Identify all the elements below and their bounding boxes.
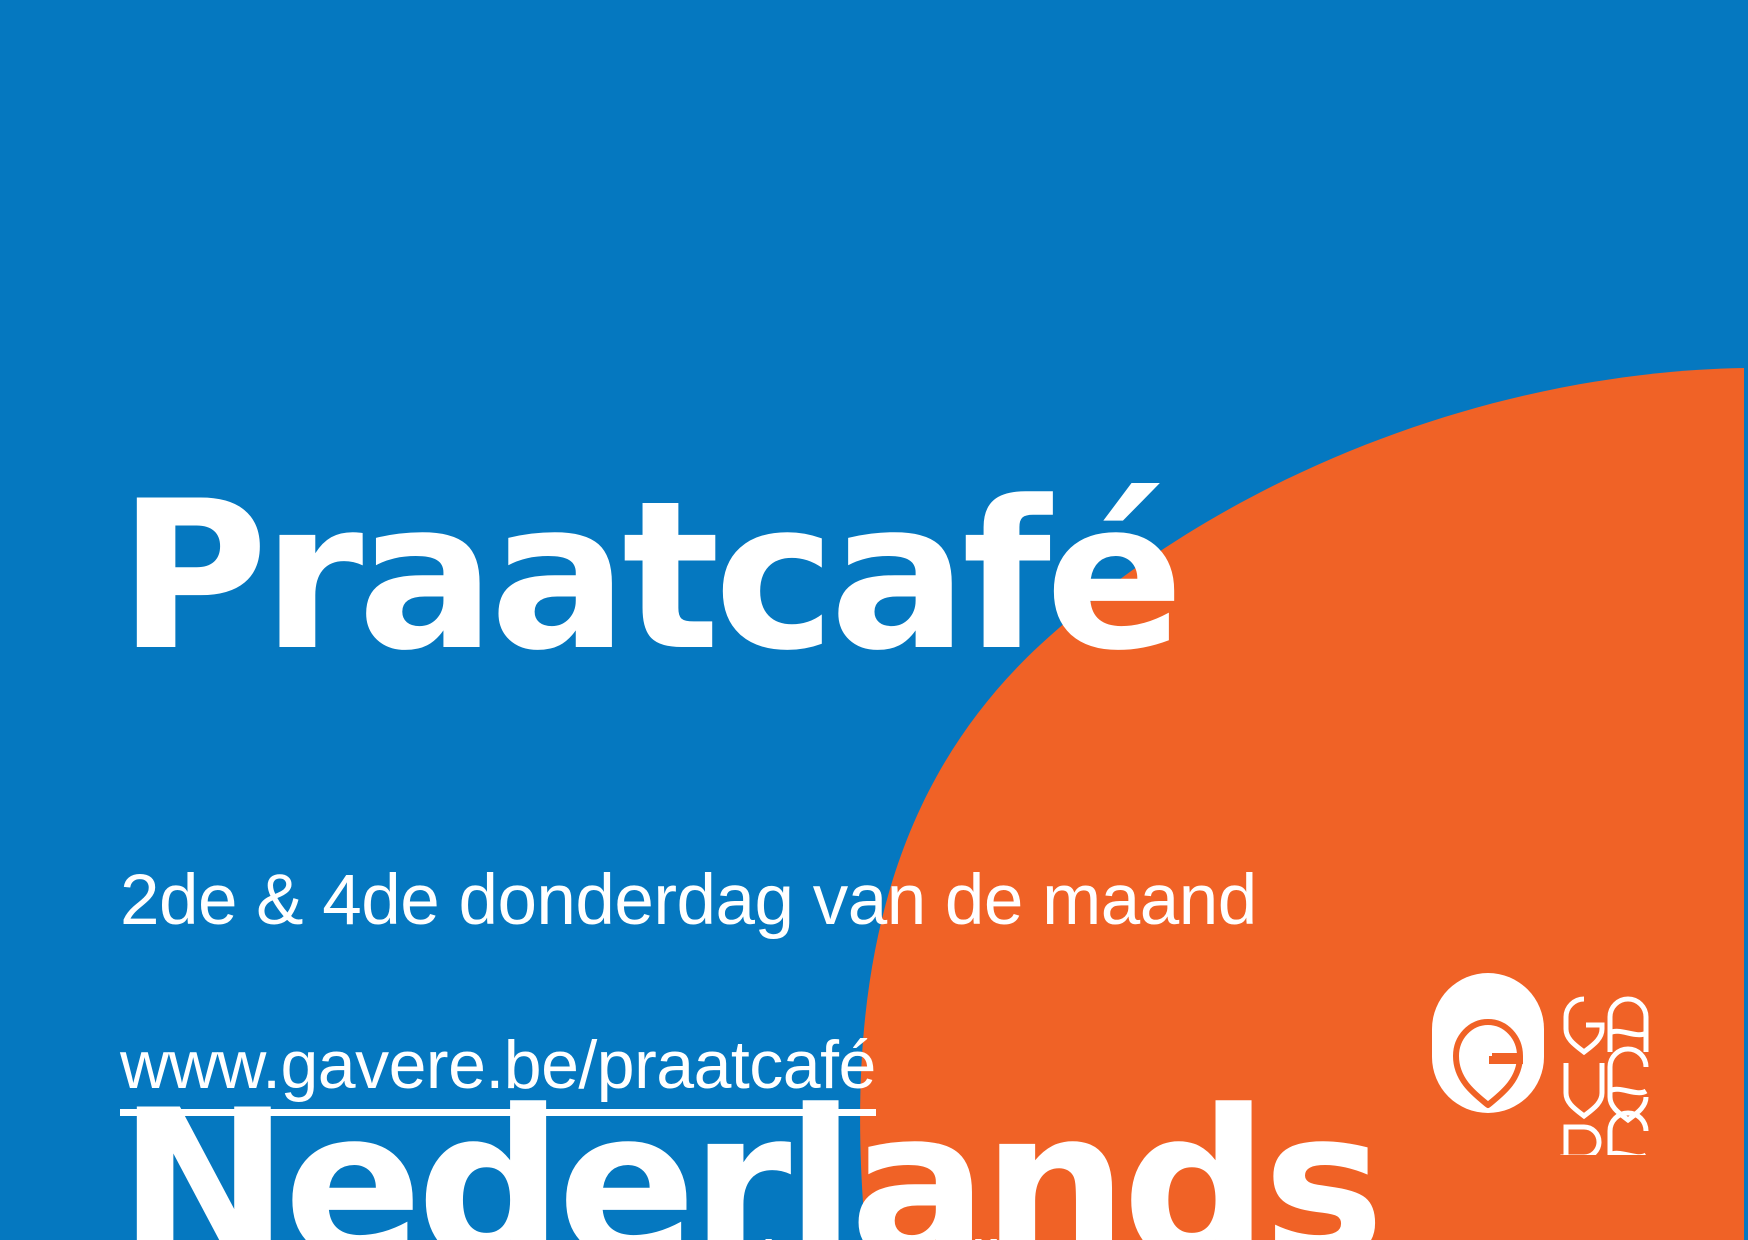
poster-content: Praatcafé Nederlands 2de & 4de donderdag… [0, 0, 1748, 1240]
website-url[interactable]: www.gavere.be/praatcafé [120, 1028, 876, 1116]
schedule-line-time: van 13.30 tot 15 uur in de bib [120, 1207, 1520, 1240]
event-schedule: 2de & 4de donderdag van de maand van 13.… [120, 596, 1520, 1240]
gavere-logo [1432, 955, 1672, 1155]
gavere-wordmark [1566, 999, 1646, 1155]
website-link-wrapper[interactable]: www.gavere.be/praatcafé [120, 1028, 876, 1116]
poster: Praatcafé Nederlands 2de & 4de donderdag… [0, 0, 1748, 1240]
schedule-line-days: 2de & 4de donderdag van de maand [120, 840, 1520, 962]
gavere-g-mark [1432, 973, 1544, 1113]
